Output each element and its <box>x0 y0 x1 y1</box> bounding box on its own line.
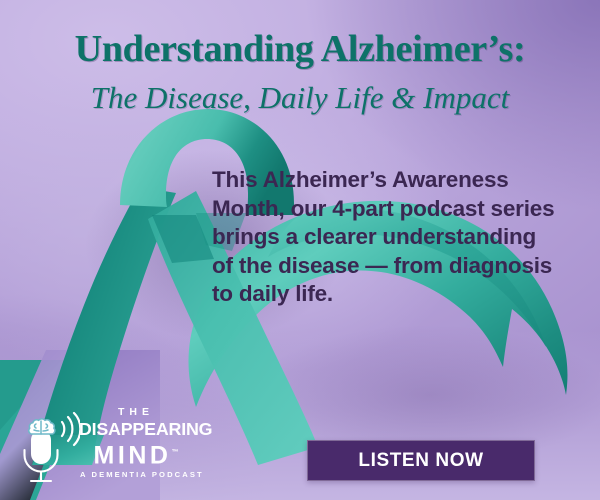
listen-now-button[interactable]: LISTEN NOW <box>307 440 535 481</box>
logo-mind-text: MIND <box>94 441 172 469</box>
logo-line-the: THE <box>80 406 192 419</box>
body-copy: This Alzheimer’s Awareness Month, our 4-… <box>212 166 572 309</box>
logo-line-disappearing: DISAPPEARING <box>79 419 193 439</box>
headline: Understanding Alzheimer’s: <box>0 28 600 70</box>
logo-wordmark: THE DISAPPEARING MIND™ A DEMENTIA PODCAS… <box>80 406 192 480</box>
brand-logo[interactable]: THE DISAPPEARING MIND™ A DEMENTIA PODCAS… <box>18 402 188 490</box>
subheadline: The Disease, Daily Life & Impact <box>0 80 600 116</box>
trademark-symbol: ™ <box>171 449 178 456</box>
ad-banner: Understanding Alzheimer’s: The Disease, … <box>0 0 600 500</box>
listen-now-label: LISTEN NOW <box>358 450 483 472</box>
logo-line-mind: MIND™ <box>80 439 192 469</box>
logo-tagline: A DEMENTIA PODCAST <box>80 469 192 480</box>
brain-microphone-icon <box>18 404 80 488</box>
